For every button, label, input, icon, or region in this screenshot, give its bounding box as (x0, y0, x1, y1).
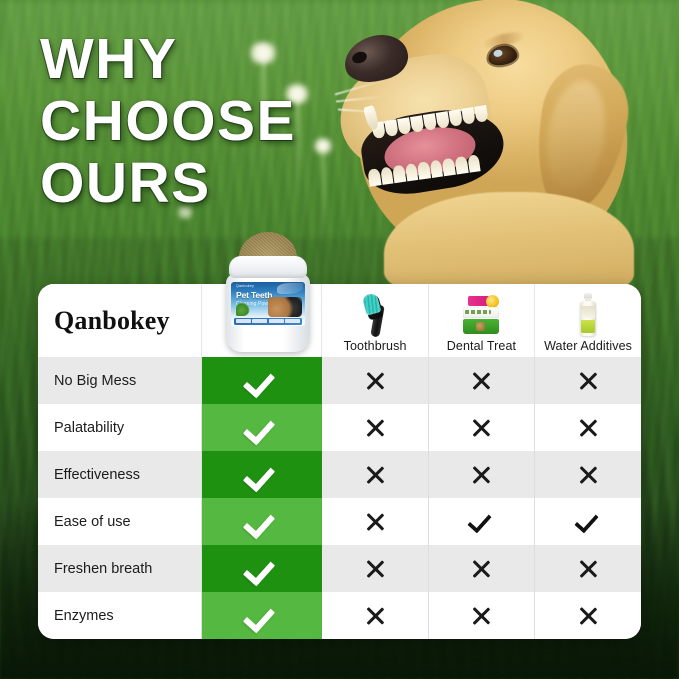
cell-toothbrush (322, 451, 428, 498)
cross-icon (365, 465, 385, 485)
cell-water-additives (535, 357, 641, 404)
cell-water-additives (535, 451, 641, 498)
jar-lid (229, 256, 307, 278)
cell-toothbrush (322, 404, 428, 451)
cell-product (202, 545, 322, 592)
cross-icon (365, 371, 385, 391)
cell-product (202, 592, 322, 639)
cell-product (202, 357, 322, 404)
cross-icon (578, 465, 598, 485)
page-title: WHY CHOOSE OURS (40, 28, 350, 214)
column-header-dental-treat: Dental Treat (428, 284, 534, 357)
label-brand: Qanbokey (236, 284, 254, 288)
table-row: Freshen breath (38, 545, 641, 592)
label-title: Pet Teeth (236, 290, 272, 300)
check-icon (247, 556, 277, 577)
column-label-water-additives: Water Additives (544, 339, 632, 353)
table-row: Effectiveness (38, 451, 641, 498)
check-icon (247, 509, 277, 530)
table-header-row: Qanbokey® Toothbrush (38, 284, 641, 357)
check-icon (247, 462, 277, 483)
cross-icon (365, 512, 385, 532)
check-icon (247, 368, 277, 389)
dental-treat-package-icon (459, 291, 503, 337)
check-icon (469, 512, 493, 530)
row-label: Effectiveness (38, 451, 202, 498)
table-row: Enzymes (38, 592, 641, 639)
cell-water-additives (535, 498, 641, 545)
water-additive-bottle-icon (578, 291, 598, 337)
label-pets-photo (268, 297, 302, 317)
cell-dental-treat (428, 545, 534, 592)
row-label: No Big Mess (38, 357, 202, 404)
cell-water-additives (535, 545, 641, 592)
check-icon (247, 603, 277, 624)
cell-dental-treat (428, 498, 534, 545)
cell-toothbrush (322, 592, 428, 639)
cross-icon (365, 559, 385, 579)
column-header-water-additives: Water Additives (535, 284, 641, 357)
product-jar-image: Qanbokey Pet Teeth Cleaning Powder (213, 232, 321, 354)
table-row: Ease of use (38, 498, 641, 545)
cross-icon (578, 418, 598, 438)
cell-dental-treat (428, 592, 534, 639)
cross-icon (471, 371, 491, 391)
column-header-toothbrush: Toothbrush (322, 284, 428, 357)
cell-water-additives (535, 404, 641, 451)
cross-icon (578, 559, 598, 579)
label-leaf-icon (236, 302, 250, 316)
check-icon (576, 512, 600, 530)
cell-toothbrush (322, 357, 428, 404)
table-row: Palatability (38, 404, 641, 451)
cell-water-additives (535, 592, 641, 639)
label-feature-bar (234, 318, 302, 325)
cross-icon (365, 606, 385, 626)
cross-icon (471, 606, 491, 626)
toothbrush-icon (358, 291, 392, 337)
row-label: Freshen breath (38, 545, 202, 592)
cell-product (202, 404, 322, 451)
check-icon (247, 415, 277, 436)
cell-product (202, 498, 322, 545)
column-label-toothbrush: Toothbrush (344, 339, 407, 353)
headline-line-3: OURS (40, 152, 350, 214)
cross-icon (471, 418, 491, 438)
cell-toothbrush (322, 545, 428, 592)
cell-dental-treat (428, 404, 534, 451)
row-label: Palatability (38, 404, 202, 451)
comparison-table-card: Qanbokey® Toothbrush (38, 284, 641, 639)
cross-icon (471, 465, 491, 485)
cross-icon (365, 418, 385, 438)
cell-product (202, 451, 322, 498)
cell-toothbrush (322, 498, 428, 545)
headline-line-1: WHY (40, 28, 350, 90)
cell-dental-treat (428, 451, 534, 498)
headline-line-2: CHOOSE (40, 90, 350, 152)
column-label-dental-treat: Dental Treat (447, 339, 516, 353)
comparison-table: Qanbokey® Toothbrush (38, 284, 641, 639)
label-swoosh (277, 283, 303, 294)
row-label: Ease of use (38, 498, 202, 545)
brand-name: Qanbokey (54, 306, 170, 336)
dog-photo (332, 0, 679, 286)
cross-icon (578, 371, 598, 391)
cell-dental-treat (428, 357, 534, 404)
brand-cell: Qanbokey® (38, 284, 202, 357)
row-label: Enzymes (38, 592, 202, 639)
jar-label: Qanbokey Pet Teeth Cleaning Powder (231, 282, 305, 326)
cross-icon (578, 606, 598, 626)
cross-icon (471, 559, 491, 579)
table-row: No Big Mess (38, 357, 641, 404)
